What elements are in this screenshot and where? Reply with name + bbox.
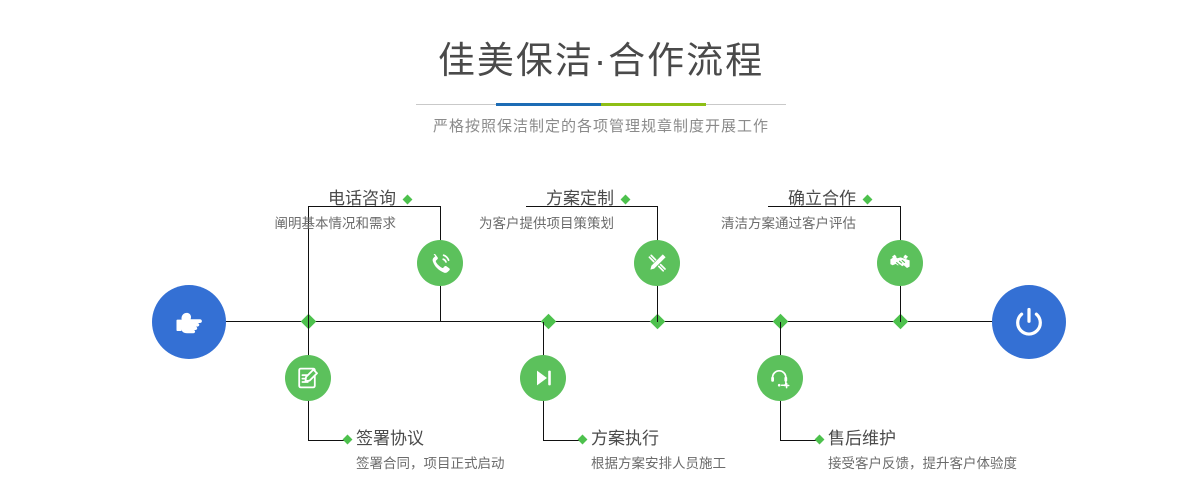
step-node-5[interactable] bbox=[877, 240, 923, 286]
step-title-1: 电话咨询 bbox=[150, 190, 396, 207]
step-label-3: 方案定制 为客户提供项目策策划 bbox=[368, 190, 614, 231]
page-title: 佳美保洁·合作流程 bbox=[0, 42, 1202, 79]
step-desc-1: 阐明基本情况和需求 bbox=[150, 217, 396, 231]
phone-call-icon bbox=[426, 249, 454, 277]
header: 佳美保洁·合作流程 严格按照保洁制定的各项管理规章制度开展工作 bbox=[0, 0, 1202, 134]
label-marker-step-5 bbox=[863, 195, 873, 205]
page-subtitle: 严格按照保洁制定的各项管理规章制度开展工作 bbox=[0, 119, 1202, 134]
step-label-6: 售后维护 接受客户反馈，提升客户体验度 bbox=[828, 430, 1128, 471]
document-edit-icon bbox=[294, 364, 322, 392]
pointing-hand-icon bbox=[168, 301, 210, 343]
cooperation-process-infographic: 佳美保洁·合作流程 严格按照保洁制定的各项管理规章制度开展工作 bbox=[0, 0, 1202, 502]
title-divider bbox=[416, 103, 786, 106]
step-desc-4: 根据方案安排人员施工 bbox=[591, 457, 851, 471]
support-agent-add-icon bbox=[766, 364, 794, 392]
step-title-3: 方案定制 bbox=[368, 190, 614, 207]
step-label-2: 签署协议 签署合同，项目正式启动 bbox=[356, 430, 616, 471]
step-node-6[interactable] bbox=[757, 355, 803, 401]
step-desc-2: 签署合同，项目正式启动 bbox=[356, 457, 616, 471]
timeline-start-endpoint bbox=[152, 285, 226, 359]
step-node-2[interactable] bbox=[285, 355, 331, 401]
step-label-5: 确立合作 清洁方案通过客户评估 bbox=[604, 190, 856, 231]
step-desc-3: 为客户提供项目策策划 bbox=[368, 217, 614, 231]
step-node-3[interactable] bbox=[634, 240, 680, 286]
connector-horizontal-step-4 bbox=[543, 440, 583, 441]
step-title-4: 方案执行 bbox=[591, 430, 851, 447]
divider-segment-green bbox=[601, 103, 706, 106]
handshake-icon bbox=[886, 249, 914, 277]
pencil-design-icon bbox=[643, 249, 671, 277]
connector-horizontal-step-6 bbox=[780, 440, 820, 441]
power-icon bbox=[1008, 301, 1050, 343]
step-node-4[interactable] bbox=[520, 355, 566, 401]
connector-horizontal-step-2 bbox=[308, 440, 348, 441]
timeline-axis bbox=[160, 321, 1042, 322]
step-node-1[interactable] bbox=[417, 240, 463, 286]
step-label-1: 电话咨询 阐明基本情况和需求 bbox=[150, 190, 396, 231]
step-desc-5: 清洁方案通过客户评估 bbox=[604, 217, 856, 231]
step-title-5: 确立合作 bbox=[604, 190, 856, 207]
step-label-4: 方案执行 根据方案安排人员施工 bbox=[591, 430, 851, 471]
step-title-6: 售后维护 bbox=[828, 430, 1128, 447]
step-desc-6: 接受客户反馈，提升客户体验度 bbox=[828, 457, 1128, 471]
play-forward-icon bbox=[529, 364, 557, 392]
timeline-end-endpoint bbox=[992, 285, 1066, 359]
divider-segment-blue bbox=[496, 103, 601, 106]
label-marker-step-2 bbox=[343, 435, 353, 445]
